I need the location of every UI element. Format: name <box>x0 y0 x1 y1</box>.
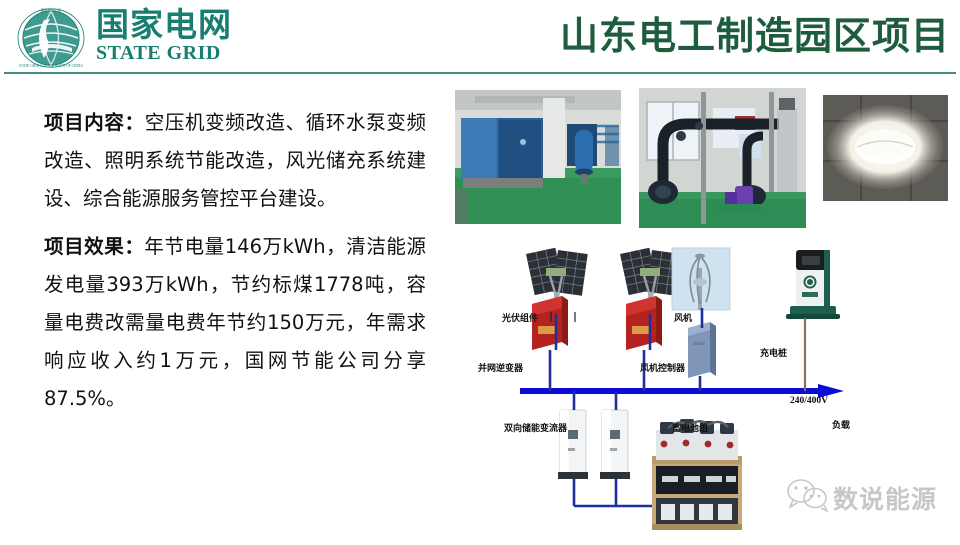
label-project-content: 项目内容： <box>44 111 145 134</box>
label-battery-bank: 蓄电池组 <box>672 421 708 434</box>
label-wind-turbine: 风机 <box>674 311 692 324</box>
photo-air-compressor <box>455 90 621 224</box>
photo-circulating-water-pump <box>639 88 806 228</box>
paragraph-project-effect: 项目效果：年节电量146万kWh，清洁能源发电量393万kWh，节约标煤1778… <box>44 228 426 418</box>
label-bus-voltage: 240/400V <box>790 396 828 406</box>
wechat-icon <box>785 478 829 512</box>
label-load: 负载 <box>832 418 850 431</box>
photo-led-ceiling-light <box>823 95 948 201</box>
label-wind-controller: 风机控制器 <box>640 361 685 374</box>
state-grid-logo: 国家电网公司 STATE GRID CORPORATION OF CHINA 国… <box>14 6 234 68</box>
paragraph-project-content: 项目内容：空压机变频改造、循环水泵变频改造、照明系统节能改造，风光储充系统建设、… <box>44 104 426 218</box>
grid-inverter-2 <box>626 296 662 350</box>
slide-header: 国家电网公司 STATE GRID CORPORATION OF CHINA 国… <box>0 0 960 74</box>
state-grid-logo-text: 国家电网 STATE GRID <box>96 8 232 64</box>
slide-root: 国家电网公司 STATE GRID CORPORATION OF CHINA 国… <box>0 0 960 540</box>
state-grid-globe-emblem: 国家电网公司 STATE GRID CORPORATION OF CHINA <box>14 8 88 68</box>
svg-text:国家电网公司: 国家电网公司 <box>41 8 61 13</box>
wind-controller-cabinet <box>688 322 716 378</box>
battery-bank <box>652 419 742 530</box>
label-bidirectional-pcs: 双向储能变流器 <box>504 421 567 434</box>
header-divider <box>4 72 956 74</box>
text-project-effect: 年节电量146万kWh，清洁能源发电量393万kWh，节约标煤1778吨，容量电… <box>44 235 426 410</box>
watermark-text: 数说能源 <box>833 480 937 516</box>
bidirectional-pcs-2 <box>600 410 630 479</box>
svg-text:STATE GRID CORPORATION OF CHIN: STATE GRID CORPORATION OF CHINA <box>19 64 83 68</box>
label-grid-inverter: 并网逆变器 <box>478 361 523 374</box>
logo-chinese-name: 国家电网 <box>96 8 232 42</box>
label-charging-pile: 充电桩 <box>760 346 787 359</box>
logo-english-name: STATE GRID <box>96 42 232 64</box>
page-title: 山东电工制造园区项目 <box>500 8 950 64</box>
project-description: 项目内容：空压机变频改造、循环水泵变频改造、照明系统节能改造，风光储充系统建设、… <box>44 104 426 428</box>
watermark: 数说能源 <box>785 478 950 518</box>
label-pv-modules: 光伏组件 <box>502 311 538 324</box>
wind-turbine <box>672 248 730 310</box>
label-project-effect: 项目效果： <box>44 235 144 258</box>
